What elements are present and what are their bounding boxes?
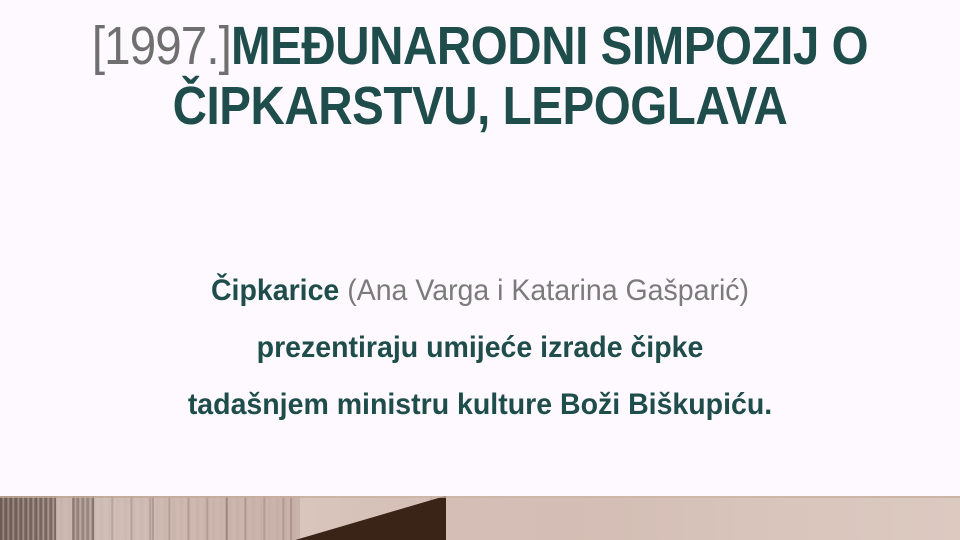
wood-dark-edge-left: [0, 496, 56, 540]
body-line-3: tadašnjem ministru kulture Boži Biškupić…: [24, 376, 936, 433]
photo-strip: [0, 496, 960, 540]
title-line-1: [1997.]MEĐUNARODNI SIMPOZIJ O: [58, 16, 903, 76]
panel-seam-3: [290, 496, 292, 540]
panel-seam-2: [226, 496, 228, 540]
photo-strip-top-edge: [0, 496, 960, 498]
title-line-1-main: MEĐUNARODNI SIMPOZIJ O: [231, 16, 868, 76]
body-line-1-rest: (Ana Varga i Katarina Gašparić): [339, 274, 749, 307]
year-label: [1997.]: [92, 16, 231, 76]
wood-dark-edge-second: [72, 496, 94, 540]
title-line-2: ČIPKARSTVU, LEPOGLAVA: [58, 76, 903, 136]
body-line-1-emphasis: Čipkarice: [211, 274, 339, 307]
title-block: [1997.]MEĐUNARODNI SIMPOZIJ O ČIPKARSTVU…: [0, 16, 960, 136]
body-line-1: Čipkarice (Ana Varga i Katarina Gašparić…: [24, 262, 936, 319]
body-line-2: prezentiraju umijeće izrade čipke: [24, 319, 936, 376]
body-block: Čipkarice (Ana Varga i Katarina Gašparić…: [0, 262, 960, 433]
slide-canvas: [1997.]MEĐUNARODNI SIMPOZIJ O ČIPKARSTVU…: [0, 0, 960, 540]
panel-seam-1: [152, 496, 154, 540]
shadow-wedge: [296, 496, 446, 540]
